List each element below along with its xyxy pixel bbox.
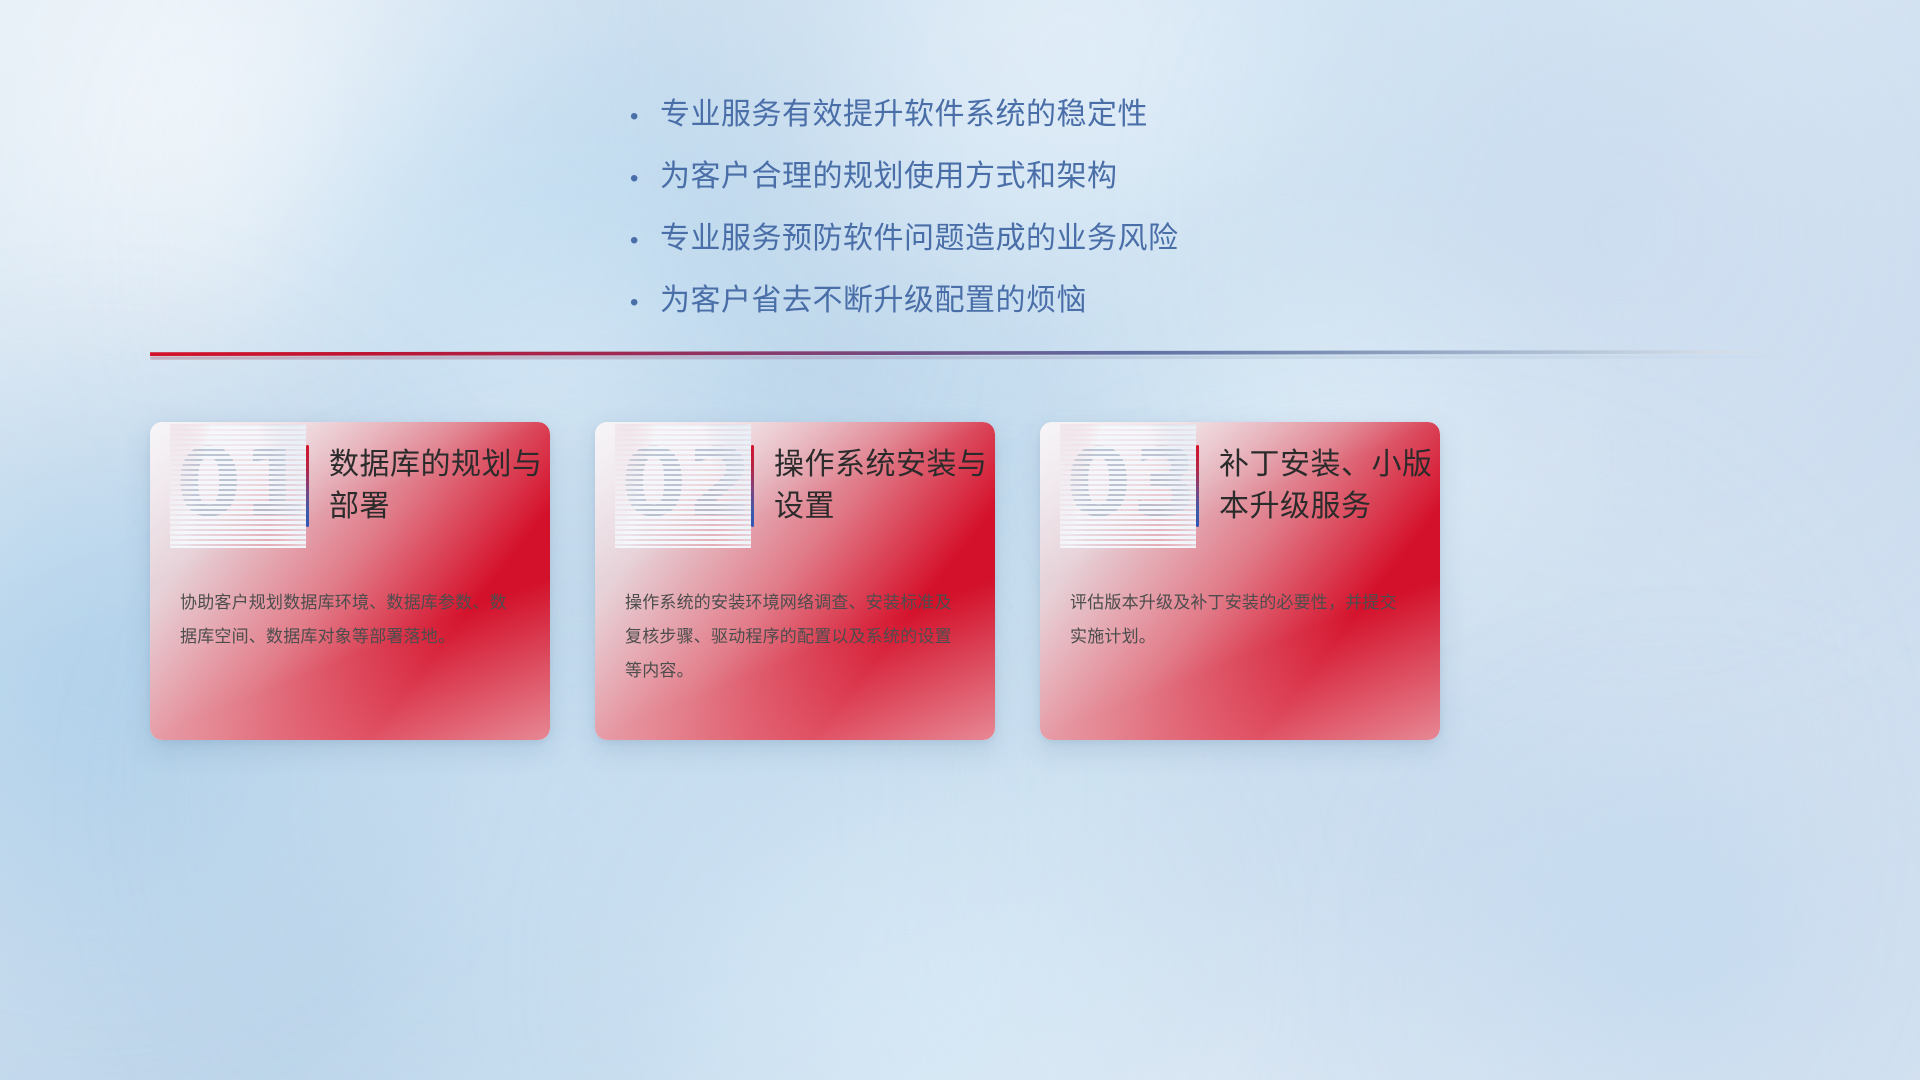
divider-shadow bbox=[150, 355, 1790, 360]
card-header: 03 补丁安装、小版本升级服务 bbox=[1040, 422, 1440, 550]
card-body-text: 评估版本升级及补丁安装的必要性，并提交实施计划。 bbox=[1040, 550, 1440, 654]
card-number-watermark: 01 bbox=[176, 434, 296, 538]
service-card-list: 01 数据库的规划与部署 协助客户规划数据库环境、数据库参数、数据库空间、数据库… bbox=[150, 422, 1440, 740]
card-title: 数据库的规划与部署 bbox=[329, 444, 545, 528]
bullet-dot-icon: • bbox=[630, 167, 660, 191]
card-title: 操作系统安装与设置 bbox=[774, 444, 990, 528]
card-number-fade bbox=[170, 424, 306, 548]
card-header: 02 操作系统安装与设置 bbox=[595, 422, 995, 550]
service-card[interactable]: 01 数据库的规划与部署 协助客户规划数据库环境、数据库参数、数据库空间、数据库… bbox=[150, 422, 550, 740]
card-number-watermark: 03 bbox=[1066, 434, 1186, 538]
bullet-text: 为客户合理的规划使用方式和架构 bbox=[660, 154, 1118, 200]
card-header: 01 数据库的规划与部署 bbox=[150, 422, 550, 550]
service-card[interactable]: 02 操作系统安装与设置 操作系统的安装环境网络调查、安装标准及复核步骤、驱动程… bbox=[595, 422, 995, 740]
list-item: • 专业服务预防软件问题造成的业务风险 bbox=[630, 216, 1290, 262]
benefits-bullet-list: • 专业服务有效提升软件系统的稳定性 • 为客户合理的规划使用方式和架构 • 专… bbox=[0, 92, 1920, 340]
list-item: • 为客户省去不断升级配置的烦恼 bbox=[630, 278, 1290, 324]
bullet-text: 为客户省去不断升级配置的烦恼 bbox=[660, 278, 1087, 324]
bullet-dot-icon: • bbox=[630, 291, 660, 315]
card-number-fade bbox=[615, 424, 751, 548]
bullet-dot-icon: • bbox=[630, 229, 660, 253]
card-body-text: 操作系统的安装环境网络调查、安装标准及复核步骤、驱动程序的配置以及系统的设置等内… bbox=[595, 550, 995, 688]
bullet-dot-icon: • bbox=[630, 105, 660, 129]
section-divider bbox=[150, 348, 1790, 362]
bullet-text: 专业服务有效提升软件系统的稳定性 bbox=[660, 92, 1148, 138]
card-number-fade bbox=[1060, 424, 1196, 548]
card-title: 补丁安装、小版本升级服务 bbox=[1219, 444, 1435, 528]
bullet-text: 专业服务预防软件问题造成的业务风险 bbox=[660, 216, 1179, 262]
list-item: • 为客户合理的规划使用方式和架构 bbox=[630, 154, 1290, 200]
list-item: • 专业服务有效提升软件系统的稳定性 bbox=[630, 92, 1290, 138]
service-card[interactable]: 03 补丁安装、小版本升级服务 评估版本升级及补丁安装的必要性，并提交实施计划。 bbox=[1040, 422, 1440, 740]
divider-gradient-bar bbox=[150, 350, 1790, 356]
card-number-watermark: 02 bbox=[621, 434, 741, 538]
card-body-text: 协助客户规划数据库环境、数据库参数、数据库空间、数据库对象等部署落地。 bbox=[150, 550, 550, 654]
